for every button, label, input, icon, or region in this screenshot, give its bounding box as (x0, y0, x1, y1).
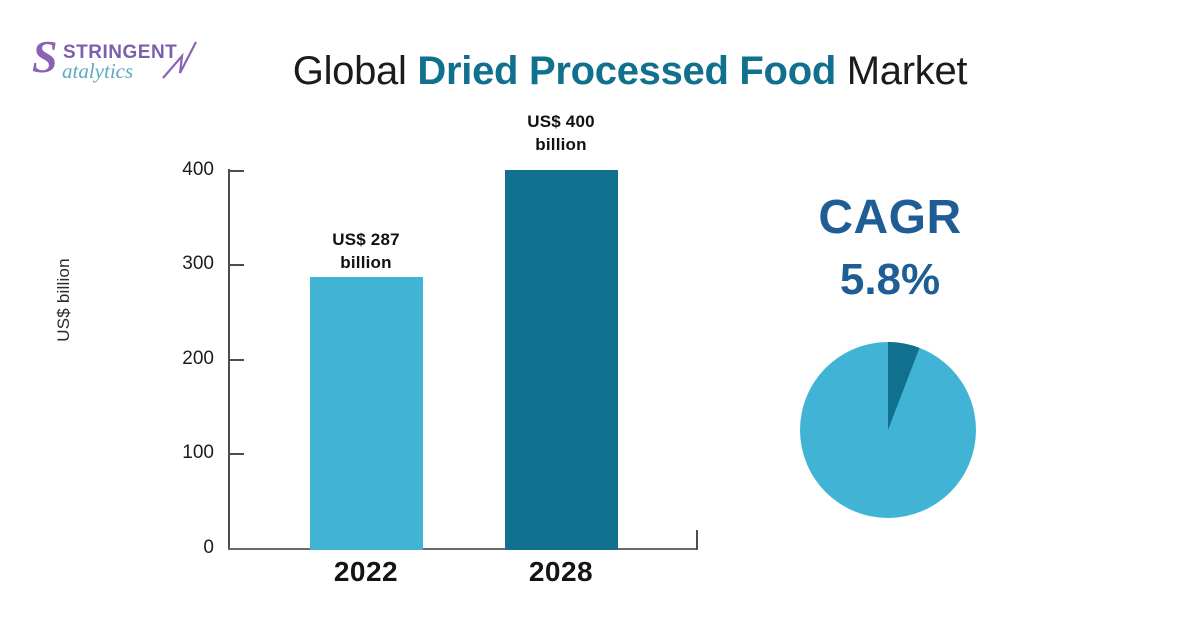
y-tick-label: 100 (140, 442, 214, 464)
title-suffix: Market (836, 49, 967, 93)
pie-artwork (800, 342, 976, 518)
bar-chart: US$ billion 400 300 200 100 0 US$ 287 bi… (0, 0, 760, 627)
cagr-label: CAGR (790, 190, 990, 246)
y-tick-label: 200 (140, 348, 214, 370)
bar-value-label-2028: US$ 400 billion (491, 110, 631, 156)
y-tick-label: 400 (140, 159, 214, 181)
infographic-canvas: S STRINGENT atalytics Global Dried Proce… (0, 0, 1200, 627)
y-axis-tick (230, 453, 244, 455)
cagr-block: CAGR 5.8% (790, 190, 990, 308)
y-axis-tick (230, 264, 244, 266)
y-axis-tick-labels: 400 300 200 100 0 (140, 0, 214, 627)
x-tick-label-2022: 2022 (296, 556, 436, 588)
y-axis-title: US$ billion (54, 230, 74, 370)
bar-value-line2: billion (491, 133, 631, 156)
x-tick-label-2028: 2028 (491, 556, 631, 588)
cagr-value: 5.8% (790, 252, 990, 308)
bar-value-line1: US$ 287 (296, 228, 436, 251)
y-tick-label: 300 (140, 253, 214, 275)
bar-value-line2: billion (296, 251, 436, 274)
x-axis-line (228, 548, 698, 550)
y-axis-tick (230, 170, 244, 172)
cagr-pie-chart (800, 342, 976, 518)
y-tick-label: 0 (140, 537, 214, 559)
bar-value-line1: US$ 400 (491, 110, 631, 133)
x-axis-end-tick (696, 530, 698, 550)
bar-2028[interactable] (505, 170, 618, 550)
bar-2022[interactable] (310, 277, 423, 550)
bar-value-label-2022: US$ 287 billion (296, 228, 436, 274)
y-axis-tick (230, 359, 244, 361)
